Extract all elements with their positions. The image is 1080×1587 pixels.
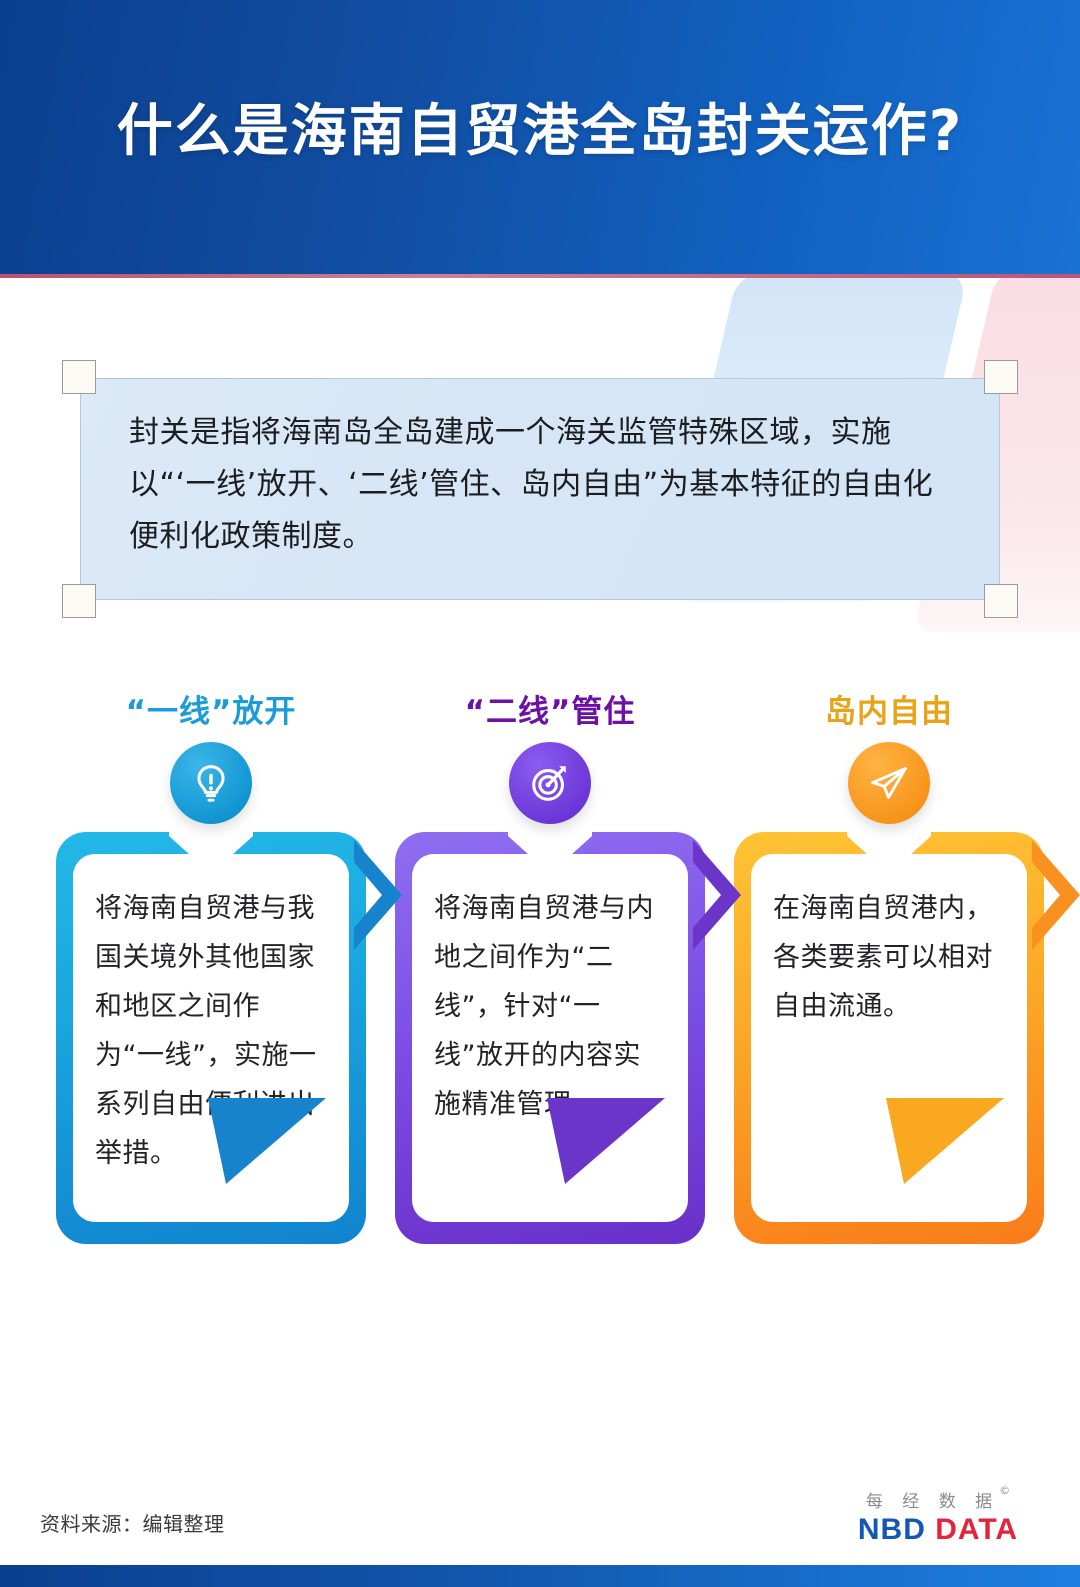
chevron-right-icon-first-line	[348, 836, 410, 954]
corner-handle-bottom-right[interactable]	[984, 584, 1018, 618]
column-title-island-free: 岛内自由	[734, 686, 1044, 731]
source-note: 资料来源：编辑整理	[40, 1508, 225, 1537]
bottom-accent-bar	[0, 1565, 1080, 1587]
chevron-right-icon-island-free	[1026, 836, 1080, 954]
corner-handle-bottom-left[interactable]	[62, 584, 96, 618]
feature-card-text-island-free: 在海南自贸港内，各类要素可以相对自由流通。	[773, 884, 1005, 1031]
infographic-page: 什么是海南自贸港全岛封关运作? 封关是指将海南岛全岛建成一个海关监管特殊区域，实…	[0, 0, 1080, 1587]
corner-handle-top-right[interactable]	[984, 360, 1018, 394]
feature-columns: “一线”放开 将海南自贸港与我国关境外其他国家和	[0, 686, 1080, 1326]
logo-english-name: NBD DATA	[848, 1513, 1028, 1547]
speech-tail-island-free	[886, 1098, 1004, 1184]
feature-card-text-second-line: 将海南自贸港与内地之间作为“二线”，针对“一线”放开的内容实施精准管理。	[434, 884, 666, 1129]
logo-data-text: DATA	[935, 1513, 1018, 1546]
nbd-logo: 每 经 数 据© NBD DATA	[848, 1487, 1028, 1547]
feature-column-first-line: “一线”放开 将海南自贸港与我国关境外其他国家和	[56, 686, 366, 731]
speech-tail-second-line	[547, 1098, 665, 1184]
header-banner: 什么是海南自贸港全岛封关运作?	[0, 0, 1080, 278]
column-title-first-line: “一线”放开	[56, 686, 366, 731]
chevron-right-icon-second-line	[687, 836, 749, 954]
feature-column-island-free: 岛内自由 在海南自贸港内，各类要素可以相对自由流通。	[734, 686, 1044, 731]
definition-text: 封关是指将海南岛全岛建成一个海关监管特殊区域，实施以“‘一线’放开、‘二线’管住…	[129, 407, 959, 563]
logo-chinese-text: 每 经 数 据	[866, 1492, 999, 1512]
lightbulb-icon	[170, 742, 252, 824]
paper-plane-icon	[848, 742, 930, 824]
definition-callout: 封关是指将海南岛全岛建成一个海关监管特殊区域，实施以“‘一线’放开、‘二线’管住…	[80, 378, 1000, 600]
corner-handle-top-left[interactable]	[62, 360, 96, 394]
target-icon	[509, 742, 591, 824]
speech-tail-first-line	[208, 1098, 326, 1184]
feature-column-second-line: “二线”管住 将海南自贸港与内地之间作为“二线”	[395, 686, 705, 731]
definition-box: 封关是指将海南岛全岛建成一个海关监管特殊区域，实施以“‘一线’放开、‘二线’管住…	[80, 378, 1000, 600]
column-title-second-line: “二线”管住	[395, 686, 705, 731]
logo-nbd-text: NBD	[858, 1513, 926, 1546]
page-title: 什么是海南自贸港全岛封关运作?	[0, 86, 1080, 167]
logo-chinese-name: 每 经 数 据©	[866, 1487, 1010, 1512]
copyright-icon: ©	[999, 1484, 1010, 1497]
